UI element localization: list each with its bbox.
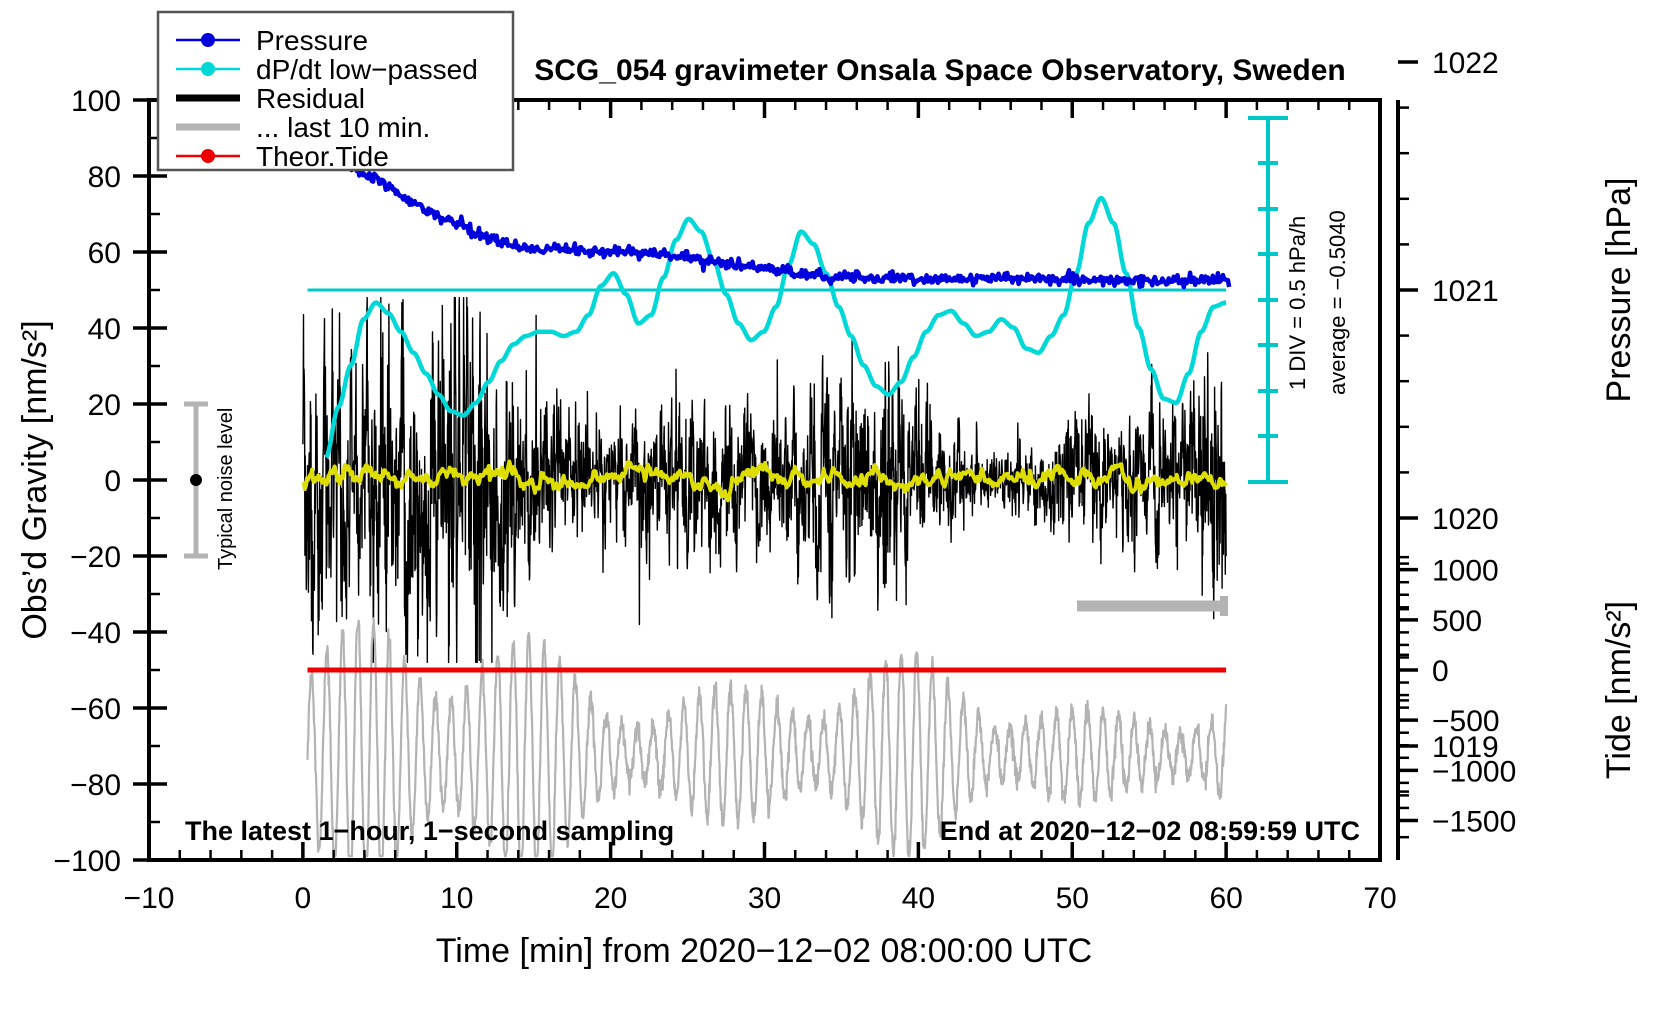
right-tide-tick-label: 500 <box>1432 605 1482 638</box>
right-tide-tick-label: 1000 <box>1432 555 1499 588</box>
y-tick-label: 0 <box>104 465 121 498</box>
legend-label: ... last 10 min. <box>256 112 430 143</box>
y-tick-label: 80 <box>88 161 121 194</box>
sampling-note: The latest 1−hour, 1−second sampling <box>185 816 674 846</box>
y-tick-label: 40 <box>88 313 121 346</box>
y-axis-right-pressure-title: Pressure [hPa] <box>1600 178 1638 403</box>
y-tick-label: 60 <box>88 237 121 270</box>
right-pressure-tick-label: 1021 <box>1432 275 1499 308</box>
x-tick-label: 60 <box>1209 882 1242 915</box>
end-note: End at 2020−12−02 08:59:59 UTC <box>940 816 1360 846</box>
x-tick-label: 40 <box>902 882 935 915</box>
legend[interactable]: PressuredP/dt low−passedResidual... last… <box>158 12 513 172</box>
y-tick-label: −80 <box>70 769 121 802</box>
x-tick-label: 10 <box>440 882 473 915</box>
legend-label: Pressure <box>256 25 368 56</box>
y-tick-label: −60 <box>70 693 121 726</box>
y-axis-left-title: Obs’d Gravity [nm/s²] <box>16 320 54 639</box>
legend-label: Residual <box>256 83 365 114</box>
y-tick-label: 100 <box>71 85 121 118</box>
scale-div-label: 1 DIV = 0.5 hPa/h <box>1285 216 1310 390</box>
gravimeter-plot: 1 DIV = 0.5 hPa/h average = −0.5040 Typi… <box>0 0 1660 1020</box>
right-tide-tick-label: −1500 <box>1432 805 1516 838</box>
legend-label: dP/dt low−passed <box>256 54 478 85</box>
x-tick-label: 30 <box>748 882 781 915</box>
y-axis-right-tide-title: Tide [nm/s²] <box>1600 601 1638 779</box>
right-tide-tick-label: 0 <box>1432 655 1449 688</box>
y-tick-label: −40 <box>70 617 121 650</box>
x-tick-label: 70 <box>1363 882 1396 915</box>
legend-label: Theor.Tide <box>256 141 389 172</box>
typical-noise-level-label: Typical noise level <box>215 408 237 570</box>
scale-average-label: average = −0.5040 <box>1325 210 1350 395</box>
y-tick-label: −100 <box>53 845 121 878</box>
x-tick-label: −10 <box>124 882 175 915</box>
y-tick-label: 20 <box>88 389 121 422</box>
right-pressure-tick-label: 1022 <box>1432 47 1499 80</box>
right-tide-tick-label: −500 <box>1432 705 1500 738</box>
right-tide-tick-label: −1000 <box>1432 755 1516 788</box>
y-tick-label: −20 <box>70 541 121 574</box>
page-title: SCG_054 gravimeter Onsala Space Observat… <box>534 54 1346 87</box>
x-tick-label: 20 <box>594 882 627 915</box>
x-tick-label: 50 <box>1056 882 1089 915</box>
x-axis-title: Time [min] from 2020−12−02 08:00:00 UTC <box>436 932 1092 970</box>
x-tick-label: 0 <box>295 882 312 915</box>
right-pressure-tick-label: 1020 <box>1432 503 1499 536</box>
